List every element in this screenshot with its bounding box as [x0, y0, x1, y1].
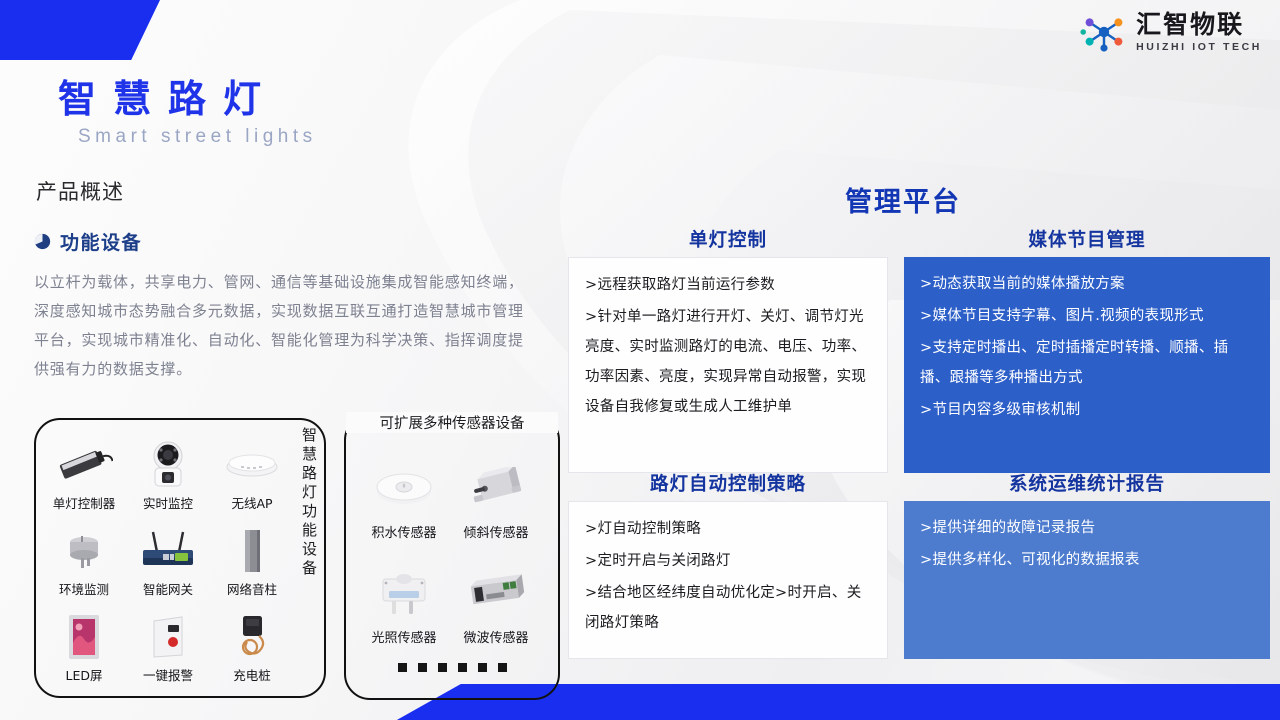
- device-label: 环境监测: [59, 579, 109, 598]
- device-item[interactable]: 单灯控制器: [42, 426, 126, 512]
- dot: [438, 663, 447, 672]
- sensor-item[interactable]: 光照传感器: [358, 541, 450, 646]
- device-label: 单灯控制器: [53, 493, 116, 512]
- device-label: 网络音柱: [227, 579, 277, 598]
- panel-heading: 媒体节目管理: [904, 226, 1270, 252]
- dot: [478, 663, 487, 672]
- platform-title: 管理平台: [845, 180, 961, 219]
- device-label: 无线AP: [231, 493, 272, 512]
- panel-system-ops-statistics-report: 系统运维统计报告 >提供详细的故障记录报告 >提供多样化、可视化的数据报表: [904, 470, 1270, 659]
- page-subtitle: Smart street lights: [78, 126, 317, 148]
- panel-heading: 系统运维统计报告: [904, 470, 1270, 496]
- panel-media-program-management: 媒体节目管理 >动态获取当前的媒体播放方案 >媒体节目支持字幕、图片.视频的表现…: [904, 226, 1270, 473]
- environment-monitor-icon: [61, 526, 107, 576]
- power-driver-icon: [55, 440, 113, 490]
- panel-line: >动态获取当前的媒体播放方案: [920, 269, 1256, 299]
- sensor-label: 倾斜传感器: [463, 522, 528, 541]
- smart-gateway-icon: [137, 526, 199, 576]
- device-label: 智能网关: [143, 579, 193, 598]
- dot: [398, 663, 407, 672]
- ptz-camera-icon: [147, 440, 189, 490]
- panel-heading: 路灯自动控制策略: [568, 470, 888, 496]
- panel-line: >远程获取路灯当前运行参数: [585, 270, 873, 300]
- panel-line: >节目内容多级审核机制: [920, 395, 1256, 425]
- sensor-panel-title: 可扩展多种传感器设备: [346, 412, 558, 433]
- device-item[interactable]: 网络音柱: [210, 512, 294, 598]
- sensor-label: 光照传感器: [371, 627, 436, 646]
- device-item[interactable]: 智能网关: [126, 512, 210, 598]
- panel-lamp-auto-control-strategy: 路灯自动控制策略 >灯自动控制策略 >定时开启与关闭路灯 >结合地区经纬度自动优…: [568, 470, 888, 659]
- overview-paragraph: 以立杆为载体，共享电力、管网、通信等基础设施集成智能感知终端，深度感知城市态势融…: [34, 268, 524, 384]
- tilt-sensor-icon: [466, 457, 526, 519]
- panel-line: >针对单一路灯进行开灯、关灯、调节灯光亮度、实时监测路灯的电流、电压、功率、功率…: [585, 302, 873, 422]
- water-level-sensor-icon: [373, 457, 435, 519]
- device-panel: 智慧路灯功能设备 单灯控制器: [34, 418, 326, 698]
- logo-text-block: 汇智物联 HUIZHI IOT TECH: [1136, 12, 1262, 53]
- microwave-sensor-icon: [464, 562, 528, 624]
- light-sensor-icon: [373, 562, 435, 624]
- panel-body: >远程获取路灯当前运行参数 >针对单一路灯进行开灯、关灯、调节灯光亮度、实时监测…: [568, 257, 888, 473]
- sensor-grid: 积水传感器: [358, 436, 542, 646]
- panel-line: >提供多样化、可视化的数据报表: [920, 545, 1256, 575]
- panel-line: >提供详细的故障记录报告: [920, 513, 1256, 543]
- panel-single-lamp-control: 单灯控制 >远程获取路灯当前运行参数 >针对单一路灯进行开灯、关灯、调节灯光亮度…: [568, 226, 888, 473]
- device-label: 充电桩: [233, 665, 271, 684]
- panel-body: >动态获取当前的媒体播放方案 >媒体节目支持字幕、图片.视频的表现形式 >支持定…: [904, 257, 1270, 473]
- device-item[interactable]: 环境监测: [42, 512, 126, 598]
- emergency-call-icon: [148, 612, 188, 662]
- logo-cn-text: 汇智物联: [1136, 12, 1262, 37]
- panel-line: >灯自动控制策略: [585, 514, 873, 544]
- device-item[interactable]: LED屏: [42, 598, 126, 684]
- device-label: 一键报警: [143, 665, 193, 684]
- charging-pile-icon: [235, 612, 269, 662]
- panel-heading: 单灯控制: [568, 226, 888, 252]
- sensor-item[interactable]: 微波传感器: [450, 541, 542, 646]
- molecule-network-icon: [1080, 12, 1128, 52]
- sensor-label: 微波传感器: [463, 627, 528, 646]
- panel-line: >定时开启与关闭路灯: [585, 546, 873, 576]
- panel-body: >灯自动控制策略 >定时开启与关闭路灯 >结合地区经纬度自动优化定>时开启、关闭…: [568, 501, 888, 659]
- device-item[interactable]: 无线AP: [210, 426, 294, 512]
- device-grid: 单灯控制器 实时监控: [42, 426, 294, 684]
- logo-en-text: HUIZHI IOT TECH: [1136, 42, 1262, 53]
- section-title-overview: 产品概述: [36, 176, 124, 206]
- sensor-panel: 可扩展多种传感器设备 积水传感器: [344, 414, 560, 700]
- panel-line: >结合地区经纬度自动优化定>时开启、关闭路灯策略: [585, 578, 873, 638]
- device-item[interactable]: 一键报警: [126, 598, 210, 684]
- sensor-label: 积水传感器: [371, 522, 436, 541]
- device-panel-side-label: 智慧路灯功能设备: [302, 426, 326, 578]
- network-speaker-icon: [239, 526, 265, 576]
- page-title: 智慧路灯: [58, 68, 278, 123]
- dot: [418, 663, 427, 672]
- device-item[interactable]: 充电桩: [210, 598, 294, 684]
- sensor-item[interactable]: 积水传感器: [358, 436, 450, 541]
- pie-circle-icon: [34, 233, 51, 250]
- wireless-ap-icon: [224, 440, 280, 490]
- dot: [498, 663, 507, 672]
- device-item[interactable]: 实时监控: [126, 426, 210, 512]
- sensor-more-dots: [346, 663, 558, 672]
- panel-line: >支持定时播出、定时插播定时转播、顺播、插播、跟播等多种播出方式: [920, 333, 1256, 393]
- dot: [458, 663, 467, 672]
- subsection-label: 功能设备: [60, 228, 142, 255]
- panel-line: >媒体节目支持字幕、图片.视频的表现形式: [920, 301, 1256, 331]
- sensor-item[interactable]: 倾斜传感器: [450, 436, 542, 541]
- panel-body: >提供详细的故障记录报告 >提供多样化、可视化的数据报表: [904, 501, 1270, 659]
- slide-canvas: 汇智物联 HUIZHI IOT TECH 智慧路灯 Smart street l…: [0, 0, 1280, 720]
- brand-logo: 汇智物联 HUIZHI IOT TECH: [1080, 12, 1262, 53]
- subsection-function-devices: 功能设备: [34, 228, 142, 255]
- device-label: 实时监控: [143, 493, 193, 512]
- led-screen-icon: [67, 612, 101, 662]
- device-label: LED屏: [66, 665, 103, 684]
